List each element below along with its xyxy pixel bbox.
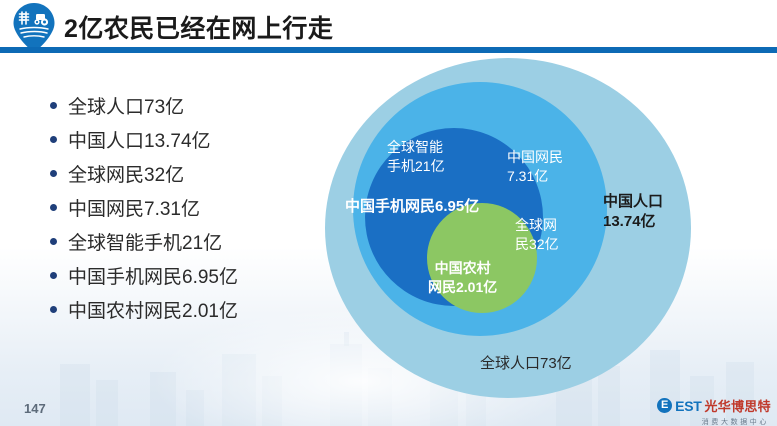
bullet-dot-icon [50,204,57,211]
slide-header: 2亿农民已经在网上行走 [0,0,777,52]
list-item-label: 中国人口13.74亿 [68,126,211,153]
list-item: 中国农村网民2.01亿 [50,296,320,330]
venn-label-china-population: 中国人口 13.74亿 [603,192,663,233]
venn-label-china-netizens: 中国网民 7.31亿 [507,148,563,186]
bullet-dot-icon [50,170,57,177]
slide-canvas: 2亿农民已经在网上行走 全球人口73亿 中国人口13.74亿 全球网民32亿 中… [0,0,777,426]
bullet-dot-icon [50,306,57,313]
venn-label-china-rural-netizens: 中国农村 网民2.01亿 [428,259,497,297]
list-item: 全球网民32亿 [50,160,320,194]
brand-name-cn: 光华博思特 [704,396,771,415]
list-item-label: 全球智能手机21亿 [68,228,222,255]
brand-mark-icon: E [657,398,672,413]
venn-label-china-mobile-netizens: 中国手机网民6.95亿 [345,197,479,217]
list-item: 全球智能手机21亿 [50,228,320,262]
list-item: 中国网民7.31亿 [50,194,320,228]
bullet-dot-icon [50,102,57,109]
venn-label-global-population: 全球人口73亿 [480,354,572,374]
bullet-dot-icon [50,272,57,279]
statistics-bullet-list: 全球人口73亿 中国人口13.74亿 全球网民32亿 中国网民7.31亿 全球智… [50,92,320,330]
list-item: 全球人口73亿 [50,92,320,126]
list-item-label: 中国网民7.31亿 [68,194,200,221]
brand-subtitle: 消费大数据中心 [651,417,771,426]
bullet-dot-icon [50,238,57,245]
page-number: 147 [24,401,46,416]
list-item-label: 全球人口73亿 [68,92,184,119]
list-item-label: 中国手机网民6.95亿 [68,262,238,289]
list-item: 中国人口13.74亿 [50,126,320,160]
venn-label-global-smartphone: 全球智能 手机21亿 [387,138,445,176]
header-divider [0,47,777,53]
page-title: 2亿农民已经在网上行走 [64,9,333,45]
list-item-label: 中国农村网民2.01亿 [68,296,238,323]
venn-label-global-netizens: 全球网 民32亿 [515,216,559,254]
brand-logo: E EST 光华博思特 消费大数据中心 [651,396,771,424]
bullet-dot-icon [50,136,57,143]
brand-logo-main: E EST 光华博思特 [651,396,771,415]
nested-venn-diagram: 中国人口 13.74亿 全球人口73亿 中国网民 7.31亿 全球网 民32亿 … [325,58,691,398]
list-item: 中国手机网民6.95亿 [50,262,320,296]
list-item-label: 全球网民32亿 [68,160,184,187]
brand-name: EST [675,398,701,414]
